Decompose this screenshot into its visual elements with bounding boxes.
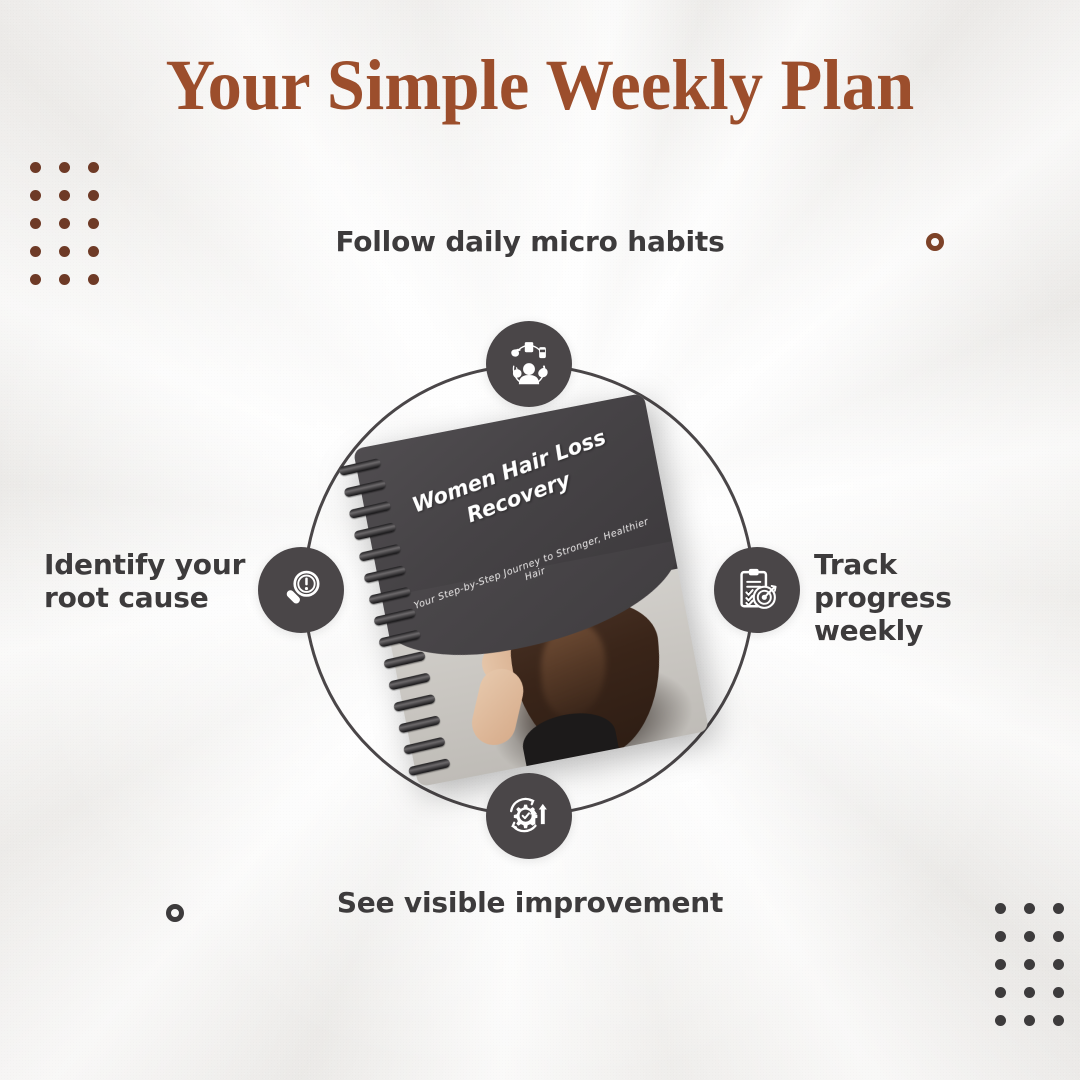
step-icon-bottom[interactable] <box>486 773 572 859</box>
dot-grid-bottom-right <box>995 903 1064 1026</box>
infographic-canvas: Your Simple Weekly Plan Women Hair Loss … <box>0 0 1080 1080</box>
step-label-right: Track progress weekly <box>814 548 1044 647</box>
step-label-left: Identify your root cause <box>44 548 254 614</box>
gear-growth-icon <box>503 790 555 842</box>
step-icon-top[interactable] <box>486 321 572 407</box>
healthy-habits-icon <box>502 337 556 391</box>
page-title: Your Simple Weekly Plan <box>27 46 1053 125</box>
ring-marker-top-right <box>926 233 944 251</box>
photo-arm-left <box>468 664 529 749</box>
step-label-top: Follow daily micro habits <box>330 225 730 258</box>
step-icon-left[interactable] <box>258 547 344 633</box>
magnifier-alert-icon <box>276 565 326 615</box>
clipboard-target-icon <box>731 564 783 616</box>
step-label-bottom: See visible improvement <box>330 886 730 919</box>
step-icon-right[interactable] <box>714 547 800 633</box>
dot-grid-top-left <box>30 162 99 285</box>
ring-marker-bottom-left <box>166 904 184 922</box>
